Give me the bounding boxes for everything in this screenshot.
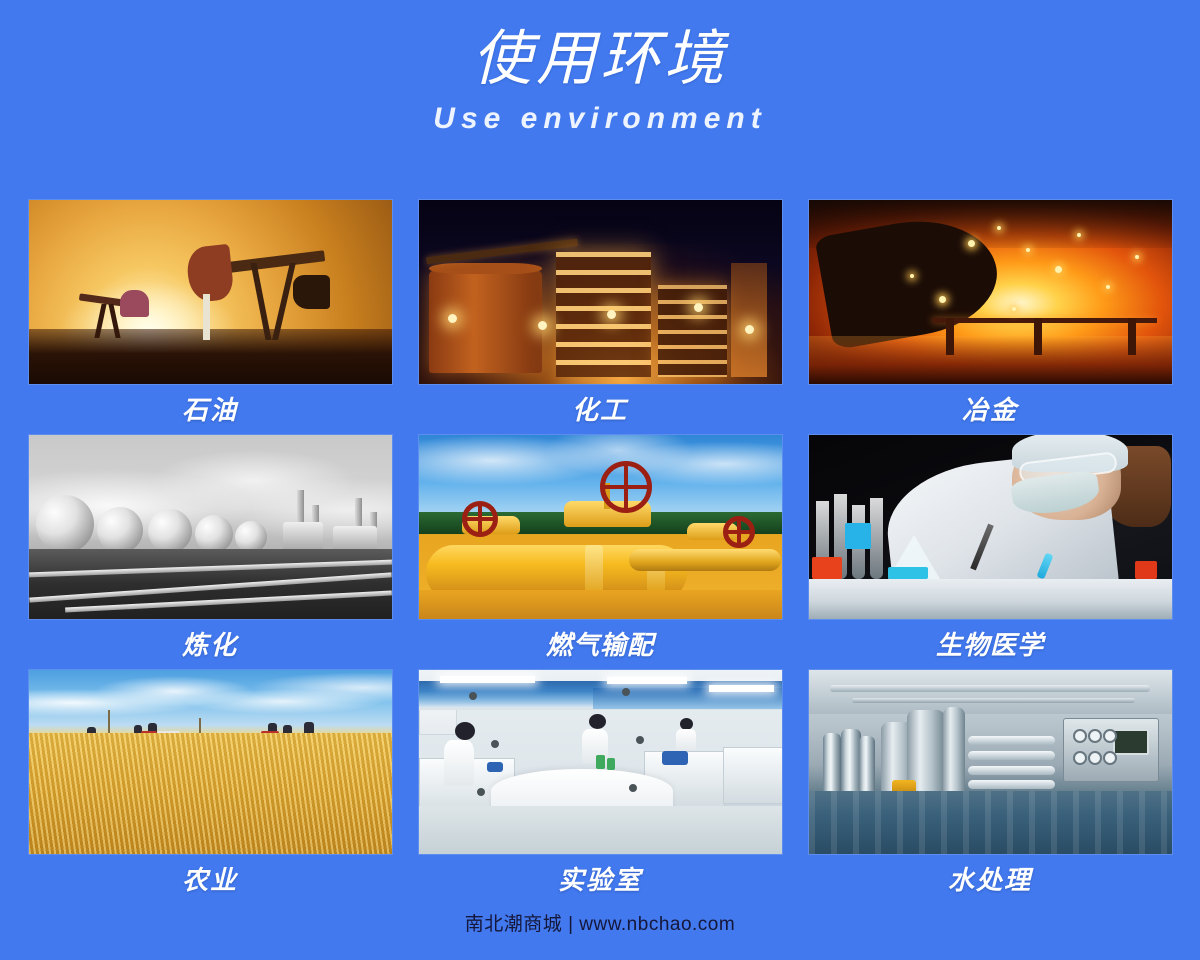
process-tower-secondary xyxy=(658,285,727,377)
grid-item-biomedicine[interactable]: 生物医学 xyxy=(795,435,1185,670)
lab-technician-coat xyxy=(444,740,474,786)
rail-post xyxy=(946,318,954,355)
ceiling-light xyxy=(607,677,687,684)
page-title-chinese: 使用环境 xyxy=(0,24,1200,94)
photo-oil-pumpjack-sunset xyxy=(29,200,392,384)
thumbnail-agriculture[interactable] xyxy=(29,670,392,854)
grid-item-label-gas-distribution: 燃气输配 xyxy=(546,628,654,662)
lab-technician-head xyxy=(455,722,475,740)
grid-item-label-agriculture: 农业 xyxy=(182,863,238,897)
spherical-tank xyxy=(148,509,192,553)
hmi-screen xyxy=(1113,729,1149,755)
photo-biomedical-researcher xyxy=(809,435,1172,619)
branch-gas-pipe xyxy=(629,549,781,571)
rail-post xyxy=(1034,318,1042,355)
grid-item-petroleum[interactable]: 石油 xyxy=(15,200,405,435)
grid-item-water-treatment[interactable]: 水处理 xyxy=(795,670,1185,905)
photo-refinery-bw xyxy=(29,435,392,619)
spark xyxy=(1012,307,1016,311)
green-bottle xyxy=(607,758,615,770)
storage-tank-top xyxy=(429,263,542,274)
grid-item-label-petroleum: 石油 xyxy=(182,393,238,427)
grid-item-metallurgy[interactable]: 冶金 xyxy=(795,200,1185,435)
thumbnail-metallurgy[interactable] xyxy=(809,200,1172,384)
rail-post xyxy=(1128,318,1136,355)
photo-wheat-field-harvest xyxy=(29,670,392,854)
photo-molten-steel-pour xyxy=(809,200,1172,384)
pumpjack-large xyxy=(188,244,333,340)
lab-floor xyxy=(419,806,782,854)
ro-membrane-housing xyxy=(968,751,1055,760)
sky-clouds xyxy=(29,670,392,733)
lab-technician-head xyxy=(589,714,606,729)
storage-tank xyxy=(429,270,542,373)
safety-rail xyxy=(932,318,1157,324)
spark xyxy=(997,226,1001,230)
blue-reagent xyxy=(845,523,871,549)
thumbnail-chemical[interactable] xyxy=(419,200,782,384)
cooling-stack xyxy=(731,263,767,377)
flask-liquid xyxy=(888,567,928,579)
green-bottle xyxy=(596,755,605,769)
blue-instrument xyxy=(487,762,503,772)
lab-bench xyxy=(809,579,1172,619)
ceiling-light xyxy=(440,676,534,683)
thumbnail-gas-distribution[interactable] xyxy=(419,435,782,619)
photo-laboratory-interior xyxy=(419,670,782,854)
spark xyxy=(1055,266,1062,273)
thumbnail-petroleum[interactable] xyxy=(29,200,392,384)
ro-membrane-housing xyxy=(968,766,1055,775)
ceiling xyxy=(809,670,1172,714)
overhead-duct-secondary xyxy=(852,698,1135,704)
thumbnail-biomedicine[interactable] xyxy=(809,435,1172,619)
grid-item-gas-distribution[interactable]: 燃气输配 xyxy=(405,435,795,670)
red-reagent xyxy=(1135,561,1157,579)
spherical-tank xyxy=(97,507,143,553)
grid-item-agriculture[interactable]: 农业 xyxy=(15,670,405,905)
wheat-field xyxy=(29,733,392,854)
slag-bed xyxy=(809,336,1172,384)
thumbnail-refining[interactable] xyxy=(29,435,392,619)
pressure-gauge xyxy=(1088,729,1102,743)
spark xyxy=(910,274,914,278)
spark xyxy=(1106,285,1110,289)
photo-water-treatment-plant xyxy=(809,670,1172,854)
footer-watermark: 南北潮商城 | www.nbchao.com xyxy=(0,912,1200,938)
grid-item-label-water-treatment: 水处理 xyxy=(948,863,1032,897)
pressure-gauge xyxy=(1088,751,1102,765)
valve-handwheel xyxy=(723,516,755,548)
grid-item-label-laboratory: 实验室 xyxy=(558,863,642,897)
grid-item-refining[interactable]: 炼化 xyxy=(15,435,405,670)
page-header: 使用环境 Use environment xyxy=(0,0,1200,138)
ro-membrane-housing xyxy=(968,736,1055,745)
grid-item-laboratory[interactable]: 实验室 xyxy=(405,670,795,905)
use-environment-grid: 石油 化工 xyxy=(0,200,1200,905)
overhead-duct xyxy=(830,685,1149,692)
floor-reflection xyxy=(809,791,1172,854)
grid-item-label-biomedicine: 生物医学 xyxy=(936,628,1044,662)
thumbnail-laboratory[interactable] xyxy=(419,670,782,854)
page-title-english: Use environment xyxy=(0,100,1200,138)
red-reagent xyxy=(812,557,842,579)
ro-membrane-housing xyxy=(968,780,1055,789)
spark xyxy=(1026,248,1030,252)
pressure-gauge xyxy=(1103,751,1117,765)
spark xyxy=(1135,255,1139,259)
thumbnail-water-treatment[interactable] xyxy=(809,670,1172,854)
photo-gas-pipeline-valves xyxy=(419,435,782,619)
test-tube xyxy=(870,498,883,579)
grid-item-label-metallurgy: 冶金 xyxy=(962,393,1018,427)
blue-tray xyxy=(662,751,688,765)
valve-handwheel xyxy=(600,461,652,513)
plant-lamp xyxy=(448,314,457,323)
spherical-tank xyxy=(36,495,94,553)
grid-item-label-chemical: 化工 xyxy=(572,393,628,427)
spark xyxy=(939,296,946,303)
side-bench xyxy=(723,747,781,804)
spherical-tank xyxy=(195,515,233,553)
grid-item-label-refining: 炼化 xyxy=(182,628,238,662)
spherical-tank xyxy=(235,521,267,553)
process-tower xyxy=(556,252,650,377)
pumpjack-small xyxy=(76,286,156,338)
photo-chemical-plant-night xyxy=(419,200,782,384)
pressure-gauge xyxy=(1103,729,1117,743)
lab-technician-coat xyxy=(676,729,696,751)
ceiling-light xyxy=(709,685,774,692)
equipment-deck xyxy=(419,590,782,619)
grid-item-chemical[interactable]: 化工 xyxy=(405,200,795,435)
